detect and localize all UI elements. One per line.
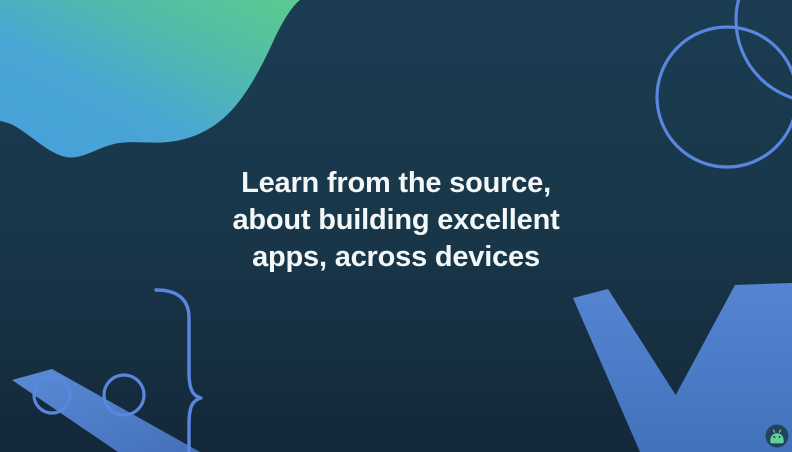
- circle-outline-large-top-right: [657, 27, 792, 167]
- angled-bar-group: [12, 283, 792, 452]
- headline-line-2: about building excellent: [0, 202, 792, 239]
- circle-outline-medium-bottom-left: [104, 375, 144, 415]
- android-robot-badge: [765, 424, 789, 448]
- curly-brace-bottom-left: [156, 290, 201, 452]
- headline-line-1: Learn from the source,: [0, 165, 792, 202]
- headline-line-3: apps, across devices: [0, 239, 792, 276]
- circle-outline-ellipse-top-right: [736, 0, 792, 102]
- android-eye-right-icon: [779, 436, 781, 438]
- android-body-icon: [770, 440, 783, 443]
- headline: Learn from the source, about building ex…: [0, 165, 792, 276]
- android-eye-left-icon: [773, 436, 775, 438]
- presentation-slide: Learn from the source, about building ex…: [0, 0, 792, 452]
